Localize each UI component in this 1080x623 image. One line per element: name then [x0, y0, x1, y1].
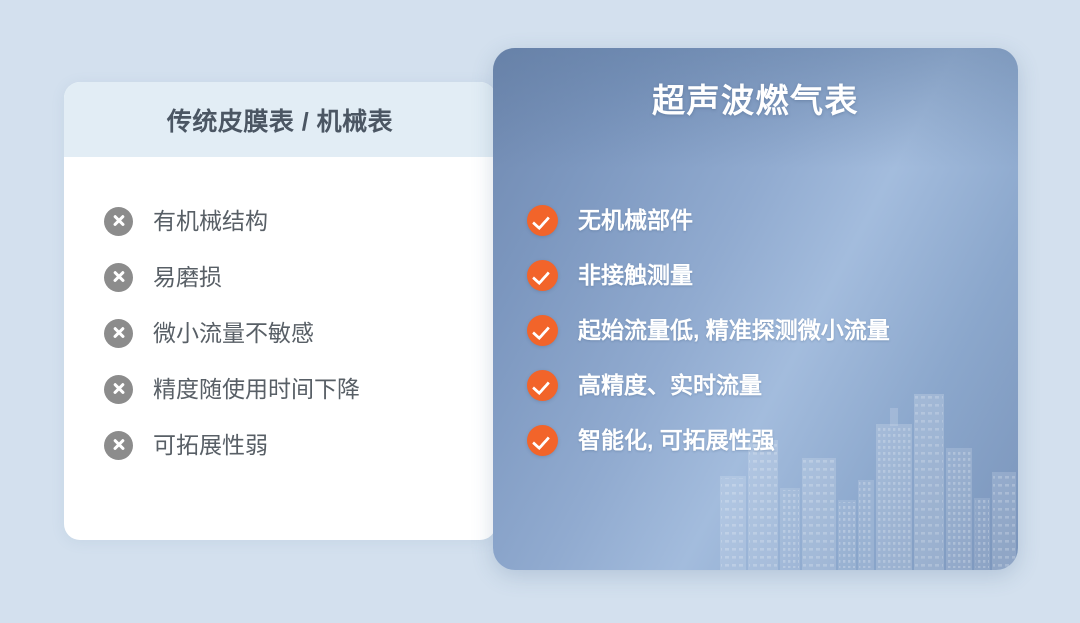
check-icon: [527, 425, 558, 456]
legacy-item-label: 可拓展性弱: [153, 434, 268, 457]
ultrasonic-item-label: 智能化, 可拓展性强: [578, 429, 775, 452]
list-item: 起始流量低, 精准探测微小流量: [527, 312, 1018, 348]
list-item: 有机械结构: [104, 203, 496, 239]
check-icon: [527, 205, 558, 236]
legacy-item-label: 精度随使用时间下降: [153, 378, 360, 401]
list-item: 易磨损: [104, 259, 496, 295]
cross-icon: [104, 375, 133, 404]
ultrasonic-item-label: 非接触测量: [578, 264, 693, 287]
ultrasonic-meter-card: 超声波燃气表 无机械部件 非接触测量 起始流量低, 精准探测微小流量 高精度、实…: [493, 48, 1018, 570]
cross-icon: [104, 431, 133, 460]
legacy-card-title: 传统皮膜表 / 机械表: [167, 102, 393, 138]
ultrasonic-card-header: 超声波燃气表: [493, 48, 1018, 148]
legacy-feature-list: 有机械结构 易磨损 微小流量不敏感 精度随使用时间下降 可拓展性弱: [64, 157, 496, 463]
list-item: 精度随使用时间下降: [104, 371, 496, 407]
legacy-item-label: 易磨损: [153, 266, 222, 289]
legacy-meter-card: 传统皮膜表 / 机械表 有机械结构 易磨损 微小流量不敏感 精度随使用时间下降: [64, 82, 496, 540]
legacy-item-label: 有机械结构: [153, 210, 268, 233]
cross-icon: [104, 207, 133, 236]
ultrasonic-feature-list: 无机械部件 非接触测量 起始流量低, 精准探测微小流量 高精度、实时流量 智能化…: [493, 148, 1018, 458]
ultrasonic-card-title: 超声波燃气表: [652, 74, 859, 122]
check-icon: [527, 260, 558, 291]
list-item: 非接触测量: [527, 257, 1018, 293]
legacy-card-header: 传统皮膜表 / 机械表: [64, 82, 496, 157]
cross-icon: [104, 263, 133, 292]
comparison-infographic: 传统皮膜表 / 机械表 有机械结构 易磨损 微小流量不敏感 精度随使用时间下降: [0, 0, 1080, 623]
cross-icon: [104, 319, 133, 348]
ultrasonic-item-label: 无机械部件: [578, 209, 693, 232]
legacy-item-label: 微小流量不敏感: [153, 322, 314, 345]
list-item: 无机械部件: [527, 202, 1018, 238]
list-item: 微小流量不敏感: [104, 315, 496, 351]
check-icon: [527, 315, 558, 346]
list-item: 智能化, 可拓展性强: [527, 422, 1018, 458]
check-icon: [527, 370, 558, 401]
list-item: 可拓展性弱: [104, 427, 496, 463]
ultrasonic-item-label: 高精度、实时流量: [578, 374, 762, 397]
ultrasonic-item-label: 起始流量低, 精准探测微小流量: [578, 319, 890, 342]
list-item: 高精度、实时流量: [527, 367, 1018, 403]
